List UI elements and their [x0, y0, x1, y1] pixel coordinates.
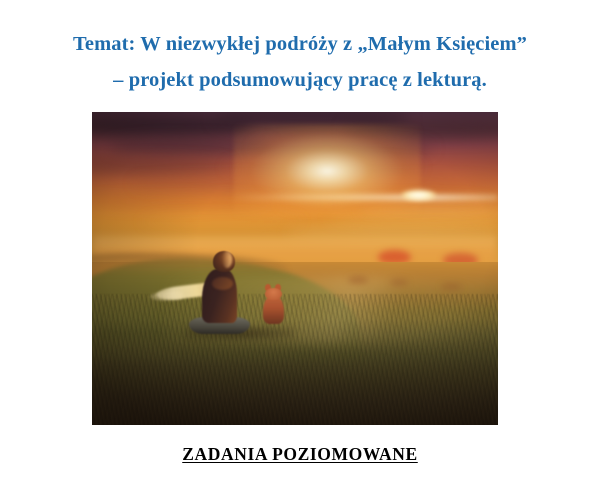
- title-line-2: – projekt podsumowujący pracę z lekturą.: [0, 62, 600, 98]
- illustration-vignette: [92, 112, 498, 425]
- page-title: Temat: W niezwykłej podróży z „Małym Ksi…: [0, 26, 600, 98]
- title-line-1: Temat: W niezwykłej podróży z „Małym Ksi…: [0, 26, 600, 62]
- footer-heading: ZADANIA POZIOMOWANE: [0, 444, 600, 465]
- illustration-image: [92, 112, 498, 425]
- slide-canvas: Temat: W niezwykłej podróży z „Małym Ksi…: [0, 0, 600, 481]
